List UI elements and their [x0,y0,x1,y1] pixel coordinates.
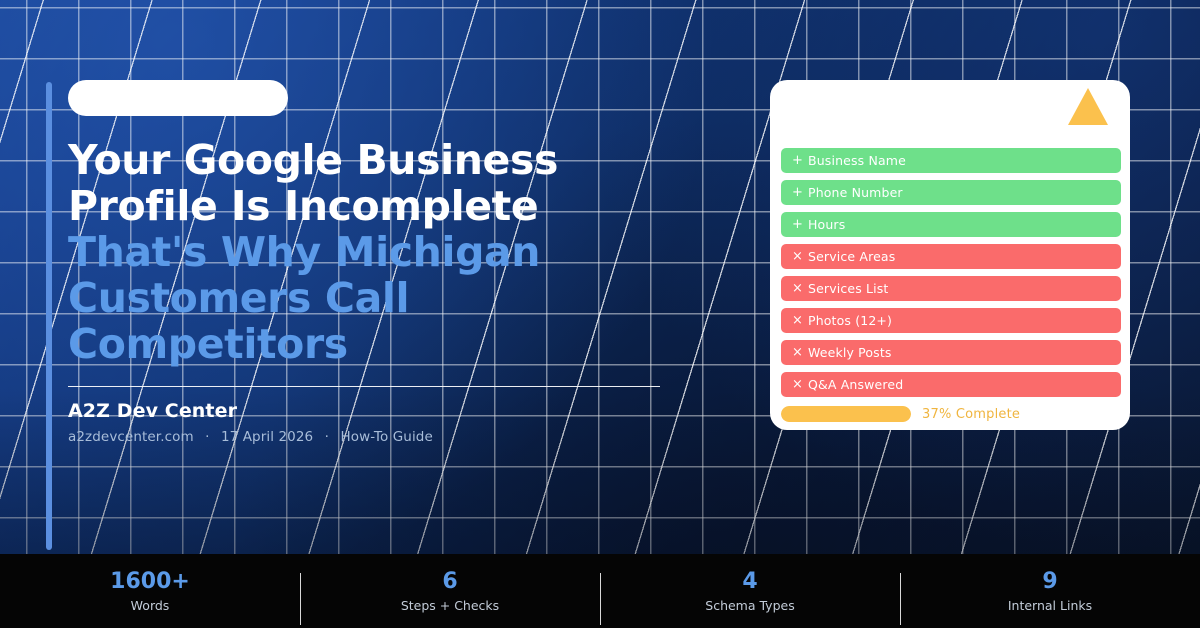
stats-bar: 1600+Words6Steps + Checks4Schema Types9I… [0,554,1200,628]
page-title: Your Google Business Profile Is Incomple… [68,138,688,368]
stat-item: 1600+Words [0,565,300,617]
checklist-row: +Hours [781,212,1121,237]
meta-site: a2zdevcenter.com [68,429,194,445]
category-badge [68,80,288,116]
title-divider [68,386,660,388]
checklist-row: +Business Name [781,148,1121,173]
stat-label: Internal Links [900,598,1200,613]
checklist-row: ×Weekly Posts [781,340,1121,365]
checklist-row-label: Phone Number [808,185,903,200]
checklist-row-label: Hours [808,217,845,232]
stat-value: 4 [600,569,900,594]
stat-item: 9Internal Links [900,565,1200,617]
warning-triangle-icon [1068,88,1108,125]
cross-icon: × [792,249,808,264]
checklist-row-label: Q&A Answered [808,377,903,392]
checklist-row: ×Photos (12+) [781,308,1121,333]
headline-secondary: That's Why Michigan Customers Call Compe… [68,230,688,368]
cross-icon: × [792,377,808,392]
cross-icon: × [792,281,808,296]
plus-icon: + [792,153,808,168]
checklist-row-label: Photos (12+) [808,313,892,328]
checklist-row: ×Service Areas [781,244,1121,269]
checklist-row-label: Service Areas [808,249,895,264]
checklist-row-label: Services List [808,281,888,296]
profile-completeness-card: +Business Name+Phone Number+Hours×Servic… [770,80,1130,430]
stat-label: Words [0,598,300,613]
plus-icon: + [792,217,808,232]
progress-bar-fill [781,406,911,422]
plus-icon: + [792,185,808,200]
checklist-row: ×Services List [781,276,1121,301]
hero-text-column: Your Google Business Profile Is Incomple… [68,80,688,445]
stat-label: Schema Types [600,598,900,613]
stat-value: 1600+ [0,569,300,594]
cross-icon: × [792,345,808,360]
stat-value: 6 [300,569,600,594]
hero-banner: Your Google Business Profile Is Incomple… [0,0,1200,628]
cross-icon: × [792,313,808,328]
brand-name: A2Z Dev Center [68,400,688,422]
article-meta: a2zdevcenter.com · 17 April 2026 · How-T… [68,429,688,445]
meta-date: 17 April 2026 [221,429,313,445]
checklist-row: ×Q&A Answered [781,372,1121,397]
progress-label: 37% Complete [922,407,1020,422]
checklist-row: +Phone Number [781,180,1121,205]
checklist-row-label: Weekly Posts [808,345,892,360]
progress-row: 37% Complete [781,406,1121,422]
stat-label: Steps + Checks [300,598,600,613]
progress-bar-track [781,406,911,422]
meta-separator-2: · [325,429,329,445]
stat-item: 6Steps + Checks [300,565,600,617]
stat-value: 9 [900,569,1200,594]
headline-primary: Your Google Business Profile Is Incomple… [68,138,688,230]
meta-separator-1: · [205,429,209,445]
checklist: +Business Name+Phone Number+Hours×Servic… [781,148,1121,404]
checklist-row-label: Business Name [808,153,906,168]
stat-item: 4Schema Types [600,565,900,617]
left-accent-bar [46,82,52,550]
meta-category: How-To Guide [340,429,432,445]
